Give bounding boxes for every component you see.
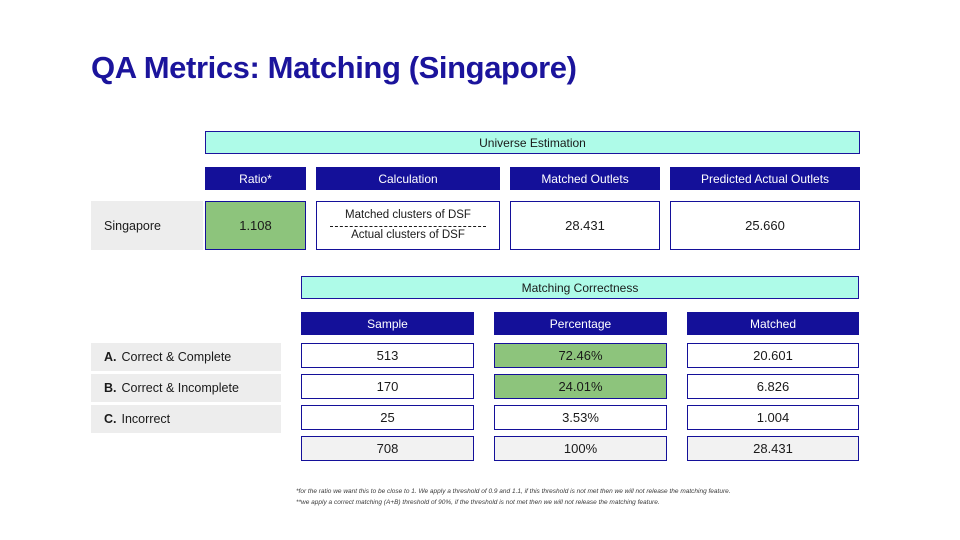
page-title: QA Metrics: Matching (Singapore): [91, 50, 577, 86]
row-bullet: B.: [104, 381, 117, 395]
cell-ratio-value: 1.108: [205, 201, 306, 250]
column-header-matched: Matched: [687, 312, 859, 335]
formula-numerator: Matched clusters of DSF: [345, 209, 471, 222]
cell-calculation-formula: Matched clusters of DSF Actual clusters …: [316, 201, 500, 250]
cell-sample-a: 513: [301, 343, 474, 368]
footnotes: *for the ratio we want this to be close …: [296, 487, 731, 508]
cell-percentage-total: 100%: [494, 436, 667, 461]
row-bullet: A.: [104, 350, 117, 364]
list-item: B. Correct & Incomplete: [91, 374, 281, 402]
formula-divider: [330, 226, 487, 227]
cell-sample-total: 708: [301, 436, 474, 461]
list-item: C. Incorrect: [91, 405, 281, 433]
column-header-calculation: Calculation: [316, 167, 500, 190]
cell-matched-outlets-value: 28.431: [510, 201, 660, 250]
cell-percentage-a: 72.46%: [494, 343, 667, 368]
matching-correctness-banner: Matching Correctness: [301, 276, 859, 299]
row-label-singapore: Singapore: [91, 201, 203, 250]
cell-sample-c: 25: [301, 405, 474, 430]
row-bullet: C.: [104, 412, 117, 426]
column-header-matched-outlets: Matched Outlets: [510, 167, 660, 190]
column-header-ratio: Ratio*: [205, 167, 306, 190]
cell-percentage-b: 24.01%: [494, 374, 667, 399]
column-header-predicted-actual-outlets: Predicted Actual Outlets: [670, 167, 860, 190]
cell-matched-a: 20.601: [687, 343, 859, 368]
cell-matched-total: 28.431: [687, 436, 859, 461]
column-header-sample: Sample: [301, 312, 474, 335]
row-label-text: Incorrect: [122, 412, 171, 426]
cell-matched-b: 6.826: [687, 374, 859, 399]
column-header-percentage: Percentage: [494, 312, 667, 335]
footnote-correct-matching: **we apply a correct matching (A+B) thre…: [296, 498, 731, 509]
row-label-text: Singapore: [104, 219, 161, 233]
row-label-text: Correct & Incomplete: [122, 381, 239, 395]
row-label-text: Correct & Complete: [122, 350, 232, 364]
cell-matched-c: 1.004: [687, 405, 859, 430]
cell-sample-b: 170: [301, 374, 474, 399]
formula-denominator: Actual clusters of DSF: [351, 229, 465, 242]
list-item: A. Correct & Complete: [91, 343, 281, 371]
footnote-ratio: *for the ratio we want this to be close …: [296, 487, 731, 498]
cell-predicted-actual-outlets-value: 25.660: [670, 201, 860, 250]
cell-percentage-c: 3.53%: [494, 405, 667, 430]
universe-estimation-banner: Universe Estimation: [205, 131, 860, 154]
